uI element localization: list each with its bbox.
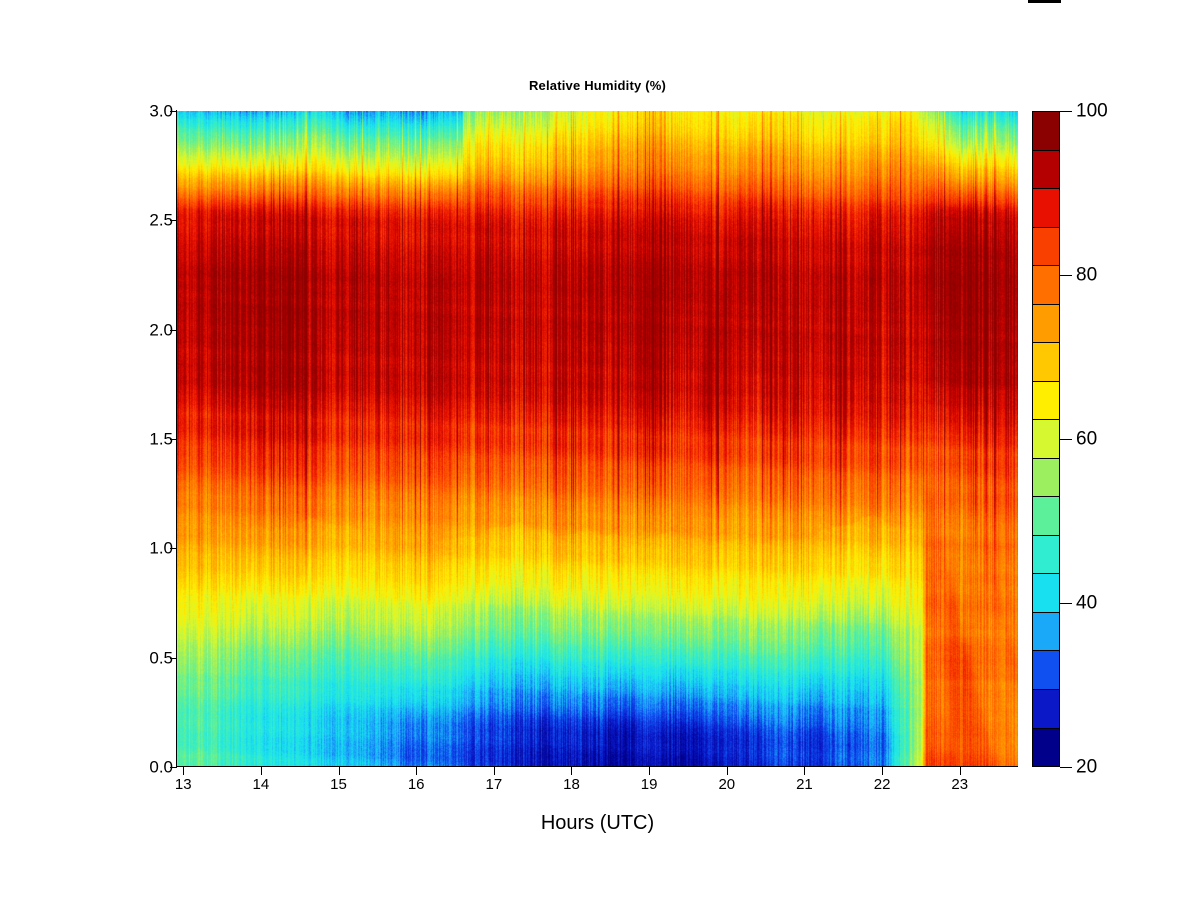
page-title: Relative Humidity (%) xyxy=(177,78,1018,93)
heatmap-image xyxy=(177,111,1018,767)
y-tick-label: 2.0 xyxy=(149,321,173,338)
colorbar-block xyxy=(1033,729,1059,767)
colorbar-block xyxy=(1033,266,1059,305)
colorbar-block xyxy=(1033,536,1059,575)
x-tick-mark xyxy=(183,767,184,775)
colorbar-block xyxy=(1033,189,1059,228)
colorbar-tick-label: 60 xyxy=(1076,430,1097,449)
colorbar-tick-mark xyxy=(1060,275,1072,276)
x-tick-mark xyxy=(339,767,340,775)
colorbar-tick-mark xyxy=(1060,111,1072,112)
colorbar-block xyxy=(1033,382,1059,421)
colorbar-block xyxy=(1033,343,1059,382)
colorbar-tick-label: 80 xyxy=(1076,266,1097,285)
colorbar-block xyxy=(1033,613,1059,652)
colorbar-tick-label: 20 xyxy=(1076,758,1097,777)
y-tick-label: 0.0 xyxy=(149,759,173,776)
x-tick-label: 22 xyxy=(874,777,891,792)
colorbar-tick-label: 40 xyxy=(1076,594,1097,613)
colorbar-block xyxy=(1033,574,1059,613)
colorbar-block xyxy=(1033,420,1059,459)
x-tick-mark xyxy=(261,767,262,775)
y-tick-label: 0.5 xyxy=(149,649,173,666)
x-tick-mark xyxy=(494,767,495,775)
x-tick-mark xyxy=(960,767,961,775)
x-tick-label: 18 xyxy=(563,777,580,792)
x-tick-label: 16 xyxy=(408,777,425,792)
colorbar: 10080604020 xyxy=(1032,111,1060,767)
x-tick-label: 20 xyxy=(718,777,735,792)
colorbar-blocks xyxy=(1032,111,1060,767)
x-tick-label: 13 xyxy=(175,777,192,792)
y-tick-label: 1.5 xyxy=(149,431,173,448)
y-tick-label: 2.5 xyxy=(149,212,173,229)
y-tick-label: 1.0 xyxy=(149,540,173,557)
x-tick-mark xyxy=(727,767,728,775)
colorbar-tick-mark xyxy=(1060,439,1072,440)
y-tick-label: 3.0 xyxy=(149,103,173,120)
x-tick-mark xyxy=(804,767,805,775)
colorbar-block xyxy=(1033,228,1059,267)
x-tick-mark xyxy=(571,767,572,775)
colorbar-block xyxy=(1033,151,1059,190)
plot-axes: 0.00.51.01.52.02.53.0 131415161718192021… xyxy=(177,111,1018,767)
colorbar-tick-mark xyxy=(1060,603,1072,604)
colorbar-tick-mark xyxy=(1060,767,1072,768)
colorbar-block xyxy=(1033,651,1059,690)
colorbar-tick-label: 100 xyxy=(1076,102,1108,121)
x-tick-label: 23 xyxy=(951,777,968,792)
colorbar-block xyxy=(1033,112,1059,151)
colorbar-block xyxy=(1033,459,1059,498)
top-edge-artifact xyxy=(1028,0,1061,3)
x-tick-mark xyxy=(416,767,417,775)
humidity-figure: Relative Humidity (%) 0.00.51.01.52.02.5… xyxy=(0,0,1200,900)
colorbar-block xyxy=(1033,690,1059,729)
x-tick-mark xyxy=(882,767,883,775)
x-tick-mark xyxy=(649,767,650,775)
x-tick-label: 14 xyxy=(253,777,270,792)
colorbar-block xyxy=(1033,497,1059,536)
x-tick-label: 17 xyxy=(485,777,502,792)
x-tick-label: 19 xyxy=(641,777,658,792)
colorbar-block xyxy=(1033,305,1059,344)
x-axis-label: Hours (UTC) xyxy=(177,812,1018,835)
x-tick-label: 15 xyxy=(330,777,347,792)
x-tick-label: 21 xyxy=(796,777,813,792)
